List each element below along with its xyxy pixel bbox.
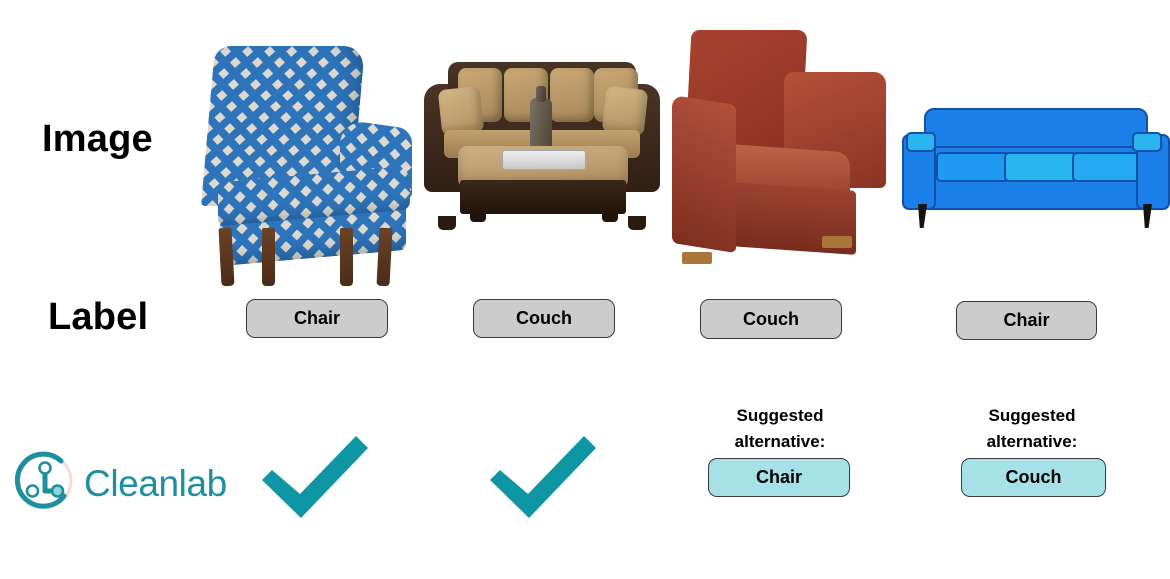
sofa-throw-pillow xyxy=(602,86,649,136)
blue-sofa-cushion xyxy=(1072,152,1146,182)
suggested-alternative-caption-4: Suggested alternative: xyxy=(942,403,1122,454)
sofa-throw-pillow xyxy=(438,86,485,136)
checkmark-icon xyxy=(256,432,372,527)
image-cell-4 xyxy=(900,108,1168,230)
sofa-foot xyxy=(628,216,646,230)
armchair-left-arm xyxy=(672,95,736,253)
image-cell-3 xyxy=(672,30,890,268)
sofa-foot xyxy=(438,216,456,230)
ottoman-base xyxy=(460,180,626,214)
row-header-label: Label xyxy=(48,296,148,339)
armchair-foot xyxy=(682,252,712,264)
blue-sofa-leg xyxy=(1143,204,1152,228)
cleanlab-brand: Cleanlab xyxy=(14,450,227,517)
suggested-label-pill-3[interactable]: Chair xyxy=(708,458,850,497)
blue-sofa-cushion xyxy=(936,152,1010,182)
glass-tray-decor xyxy=(502,150,586,170)
suggested-alternative-caption-3: Suggested alternative: xyxy=(690,403,870,454)
cleanlab-wordmark: Cleanlab xyxy=(84,465,227,502)
sofa-back-cushion xyxy=(550,68,594,122)
blue-sofa-arm-top xyxy=(1132,132,1162,152)
given-label-pill-2[interactable]: Couch xyxy=(473,299,615,338)
blue-sofa-cushion xyxy=(1004,152,1078,182)
given-label-pill-3[interactable]: Couch xyxy=(700,299,842,339)
image-cell-2 xyxy=(424,62,660,222)
ottoman-foot xyxy=(470,212,486,222)
blue-sofa-leg xyxy=(918,204,927,228)
ottoman-foot xyxy=(602,212,618,222)
row-header-image: Image xyxy=(42,118,153,161)
suggested-label-pill-4[interactable]: Couch xyxy=(961,458,1106,497)
armchair-foot xyxy=(822,236,852,248)
blue-sofa-arm-top xyxy=(906,132,936,152)
given-label-pill-4[interactable]: Chair xyxy=(956,301,1097,340)
figure-canvas: Image Label xyxy=(0,0,1170,579)
given-label-pill-1[interactable]: Chair xyxy=(246,299,388,338)
cleanlab-logo-icon xyxy=(14,450,76,517)
checkmark-icon xyxy=(484,432,600,527)
image-cell-1 xyxy=(190,46,415,286)
